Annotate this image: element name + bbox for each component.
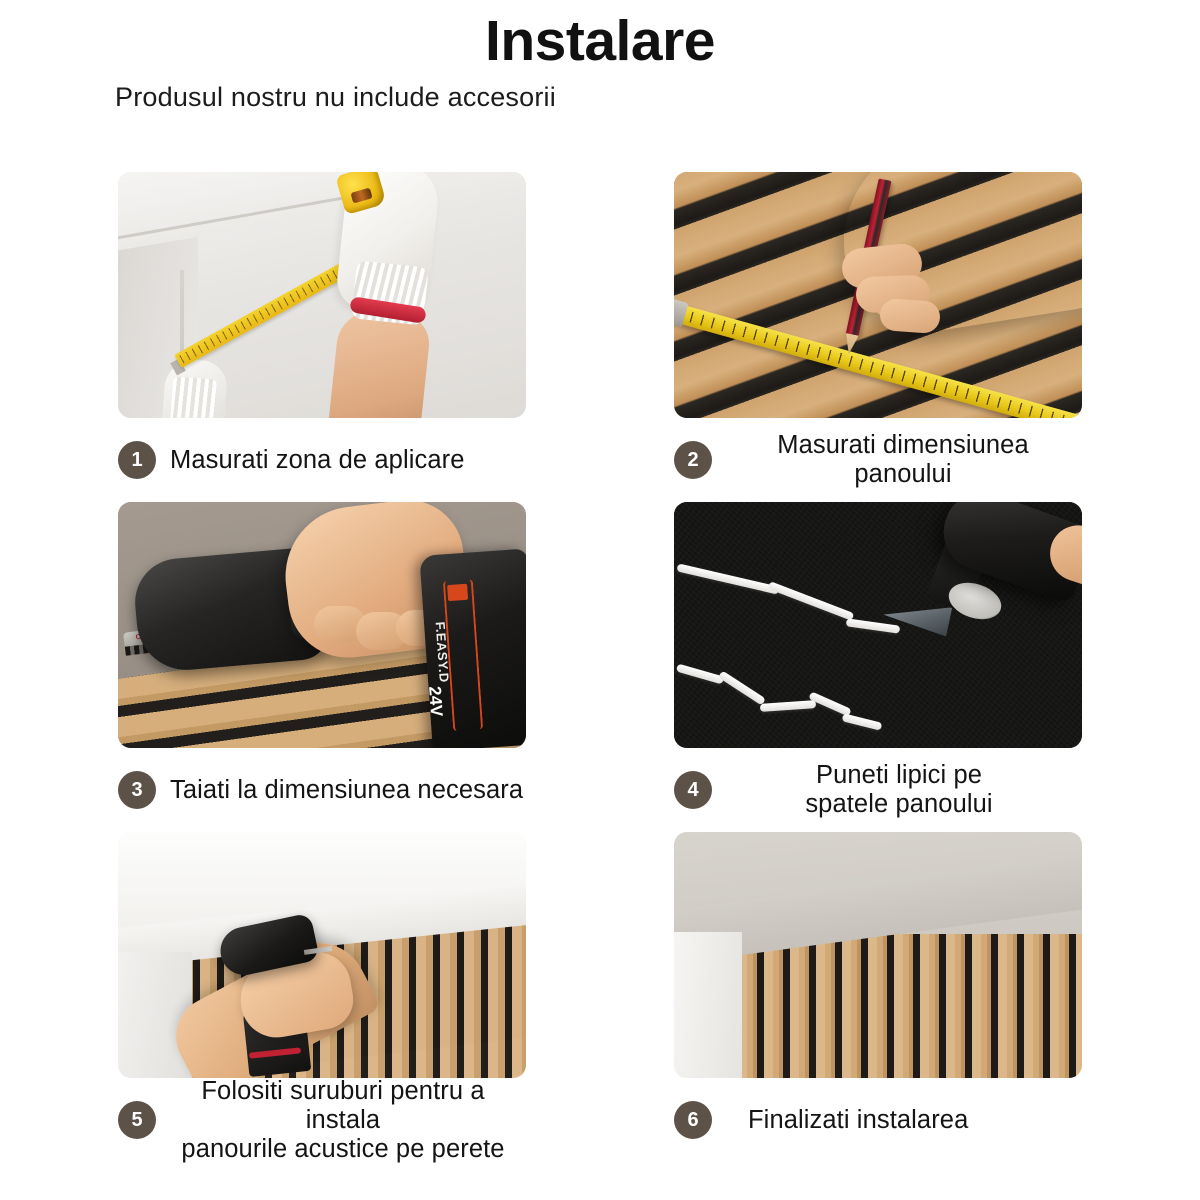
page-header: Instalare Produsul nostru nu include acc… (0, 0, 1200, 150)
step-2-photo-cell (674, 172, 1082, 418)
photo-apply-glue (674, 502, 1082, 748)
step-6-photo-cell (674, 832, 1082, 1078)
photo-measure-wall-area (118, 172, 526, 418)
step-1-caption-text: Masurati zona de aplicare (170, 446, 465, 475)
ceiling-surface (118, 172, 526, 250)
step-4-caption-text: Puneti lipici pe spatele panoului (718, 761, 1080, 819)
step-2-caption-row: 2 Masurati dimensiunea panoului (674, 418, 1082, 502)
step-1-caption-row: 1 Masurati zona de aplicare (118, 418, 526, 502)
step-6-caption-text: Finalizati instalarea (748, 1106, 968, 1135)
installation-guide-page: Instalare Produsul nostru nu include acc… (0, 0, 1200, 1200)
step-5-number-badge: 5 (118, 1101, 156, 1139)
step-1-number-badge: 1 (118, 441, 156, 479)
side-wall (674, 932, 742, 1078)
steps-grid: 1 Masurati zona de aplicare 2 Masurati d… (118, 172, 1082, 1162)
step-3-caption-text: Taiati la dimensiunea necesara (170, 776, 523, 805)
step-2-number-badge: 2 (674, 441, 712, 479)
step-3-number-badge: 3 (118, 771, 156, 809)
finger (879, 298, 941, 334)
step-2-caption-text: Masurati dimensiunea panoului (726, 431, 1080, 489)
step-6-caption-row: 6 Finalizati instalarea (674, 1078, 1082, 1162)
page-title: Instalare (0, 8, 1200, 74)
battery-indicator (447, 584, 468, 601)
step-5-caption-text: Folositi suruburi pentru a instala panou… (162, 1077, 524, 1164)
photo-screw-to-wall (118, 832, 526, 1078)
step-3-caption-row: 3 Taiati la dimensiunea necesara (118, 748, 526, 832)
step-5-photo-cell (118, 832, 526, 1078)
step-3-photo-cell: CHAIN SAW F.EASY.D 24V (118, 502, 526, 748)
step-6-number-badge: 6 (674, 1101, 712, 1139)
step-4-number-badge: 4 (674, 771, 712, 809)
step-4-photo-cell (674, 502, 1082, 748)
photo-cut-to-size: CHAIN SAW F.EASY.D 24V (118, 502, 526, 748)
step-1-photo-cell (118, 172, 526, 418)
page-subtitle: Produsul nostru nu include accesorii (115, 80, 556, 114)
photo-measure-panel (674, 172, 1082, 418)
photo-finished-install (674, 832, 1082, 1078)
step-4-caption-row: 4 Puneti lipici pe spatele panoului (674, 748, 1082, 832)
step-5-caption-row: 5 Folositi suruburi pentru a instala pan… (118, 1078, 526, 1162)
